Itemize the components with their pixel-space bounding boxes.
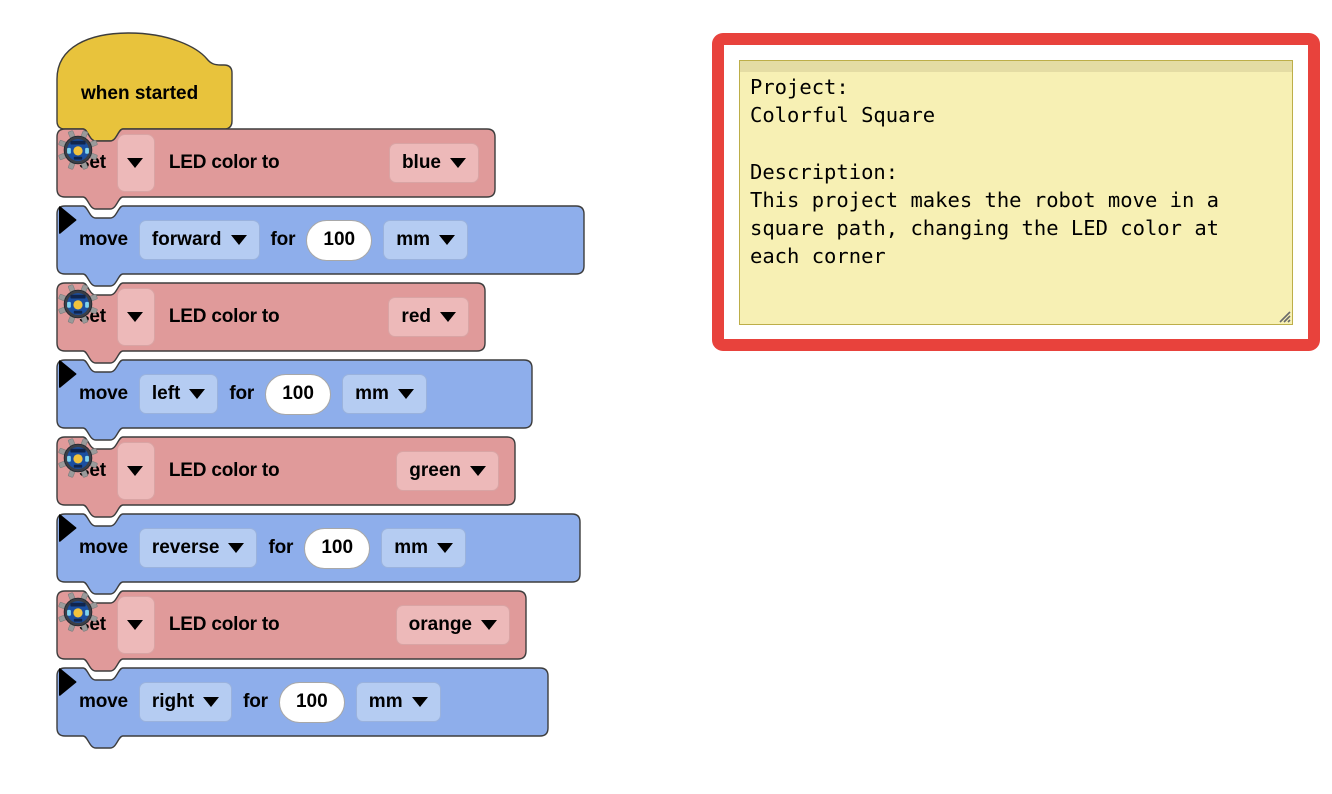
led-color-dropdown[interactable]: red	[388, 297, 469, 337]
direction-value: forward	[152, 229, 222, 251]
chevron-down-icon	[437, 543, 453, 553]
led-color-dropdown[interactable]: orange	[396, 605, 510, 645]
for-label: for	[271, 229, 296, 251]
chevron-down-icon	[127, 312, 143, 322]
device-dropdown[interactable]	[117, 442, 155, 500]
block-set-led-color[interactable]: setLED color tored	[57, 283, 485, 351]
direction-dropdown[interactable]: left	[139, 374, 219, 414]
device-dropdown[interactable]	[117, 288, 155, 346]
distance-value: 100	[323, 229, 355, 251]
move-label: move	[79, 691, 128, 713]
chevron-down-icon	[203, 697, 219, 707]
project-notes-inner: Project: Colorful Square Description: Th…	[724, 45, 1308, 339]
block-move[interactable]: moveforwardfor100mm	[57, 206, 584, 274]
led-color-to-label: LED color to	[169, 306, 280, 328]
chevron-down-icon	[127, 466, 143, 476]
play-arrow-icon[interactable]	[57, 360, 77, 388]
direction-dropdown[interactable]: right	[139, 682, 232, 722]
chevron-down-icon	[228, 543, 244, 553]
led-color-dropdown[interactable]: green	[396, 451, 499, 491]
direction-dropdown[interactable]: forward	[139, 220, 260, 260]
distance-value: 100	[296, 691, 328, 713]
chevron-down-icon	[412, 697, 428, 707]
for-label: for	[268, 537, 293, 559]
direction-dropdown[interactable]: reverse	[139, 528, 258, 568]
distance-input[interactable]: 100	[304, 528, 370, 569]
led-color-to-label: LED color to	[169, 614, 280, 636]
direction-value: left	[152, 383, 181, 405]
distance-input[interactable]: 100	[306, 220, 372, 261]
units-dropdown[interactable]: mm	[381, 528, 466, 568]
block-set-led-color[interactable]: setLED color toblue	[57, 129, 495, 197]
device-dropdown[interactable]	[117, 134, 155, 192]
block-set-led-color[interactable]: setLED color togreen	[57, 437, 515, 505]
play-arrow-icon[interactable]	[57, 206, 77, 234]
blocks-workspace: when startedsetLED color tobluemoveforwa…	[0, 0, 700, 794]
units-dropdown[interactable]: mm	[342, 374, 427, 414]
move-label: move	[79, 537, 128, 559]
for-label: for	[229, 383, 254, 405]
project-notes-textarea[interactable]: Project: Colorful Square Description: Th…	[739, 60, 1293, 325]
chevron-down-icon	[231, 235, 247, 245]
block-set-led-color[interactable]: setLED color toorange	[57, 591, 526, 659]
units-value: mm	[396, 229, 430, 251]
move-label: move	[79, 229, 128, 251]
chevron-down-icon	[450, 158, 466, 168]
device-dropdown[interactable]	[117, 596, 155, 654]
chevron-down-icon	[398, 389, 414, 399]
direction-value: right	[152, 691, 194, 713]
units-value: mm	[394, 537, 428, 559]
distance-value: 100	[282, 383, 314, 405]
distance-input[interactable]: 100	[265, 374, 331, 415]
chevron-down-icon	[439, 235, 455, 245]
block-move[interactable]: moverightfor100mm	[57, 668, 548, 736]
units-dropdown[interactable]: mm	[383, 220, 468, 260]
block-move[interactable]: movereversefor100mm	[57, 514, 580, 582]
vex-brain-icon	[57, 437, 99, 479]
units-value: mm	[355, 383, 389, 405]
notes-textarea-wrapper: Project: Colorful Square Description: Th…	[739, 60, 1293, 325]
play-arrow-icon[interactable]	[57, 668, 77, 696]
led-color-to-label: LED color to	[169, 460, 280, 482]
vex-brain-icon	[57, 129, 99, 171]
block-move[interactable]: moveleftfor100mm	[57, 360, 532, 428]
chevron-down-icon	[470, 466, 486, 476]
units-value: mm	[369, 691, 403, 713]
vex-brain-icon	[57, 283, 99, 325]
units-dropdown[interactable]: mm	[356, 682, 441, 722]
project-notes-panel: Project: Colorful Square Description: Th…	[712, 33, 1320, 351]
when-started-label: when started	[81, 83, 198, 105]
chevron-down-icon	[127, 158, 143, 168]
led-color-dropdown[interactable]: blue	[389, 143, 479, 183]
block-when-started[interactable]: when started	[57, 33, 232, 129]
led-color-value: red	[401, 306, 431, 328]
led-color-value: blue	[402, 152, 441, 174]
led-color-value: orange	[409, 614, 472, 636]
chevron-down-icon	[440, 312, 456, 322]
distance-input[interactable]: 100	[279, 682, 345, 723]
chevron-down-icon	[189, 389, 205, 399]
chevron-down-icon	[127, 620, 143, 630]
chevron-down-icon	[481, 620, 497, 630]
play-arrow-icon[interactable]	[57, 514, 77, 542]
move-label: move	[79, 383, 128, 405]
for-label: for	[243, 691, 268, 713]
direction-value: reverse	[152, 537, 220, 559]
led-color-to-label: LED color to	[169, 152, 280, 174]
led-color-value: green	[409, 460, 461, 482]
vex-brain-icon	[57, 591, 99, 633]
distance-value: 100	[321, 537, 353, 559]
